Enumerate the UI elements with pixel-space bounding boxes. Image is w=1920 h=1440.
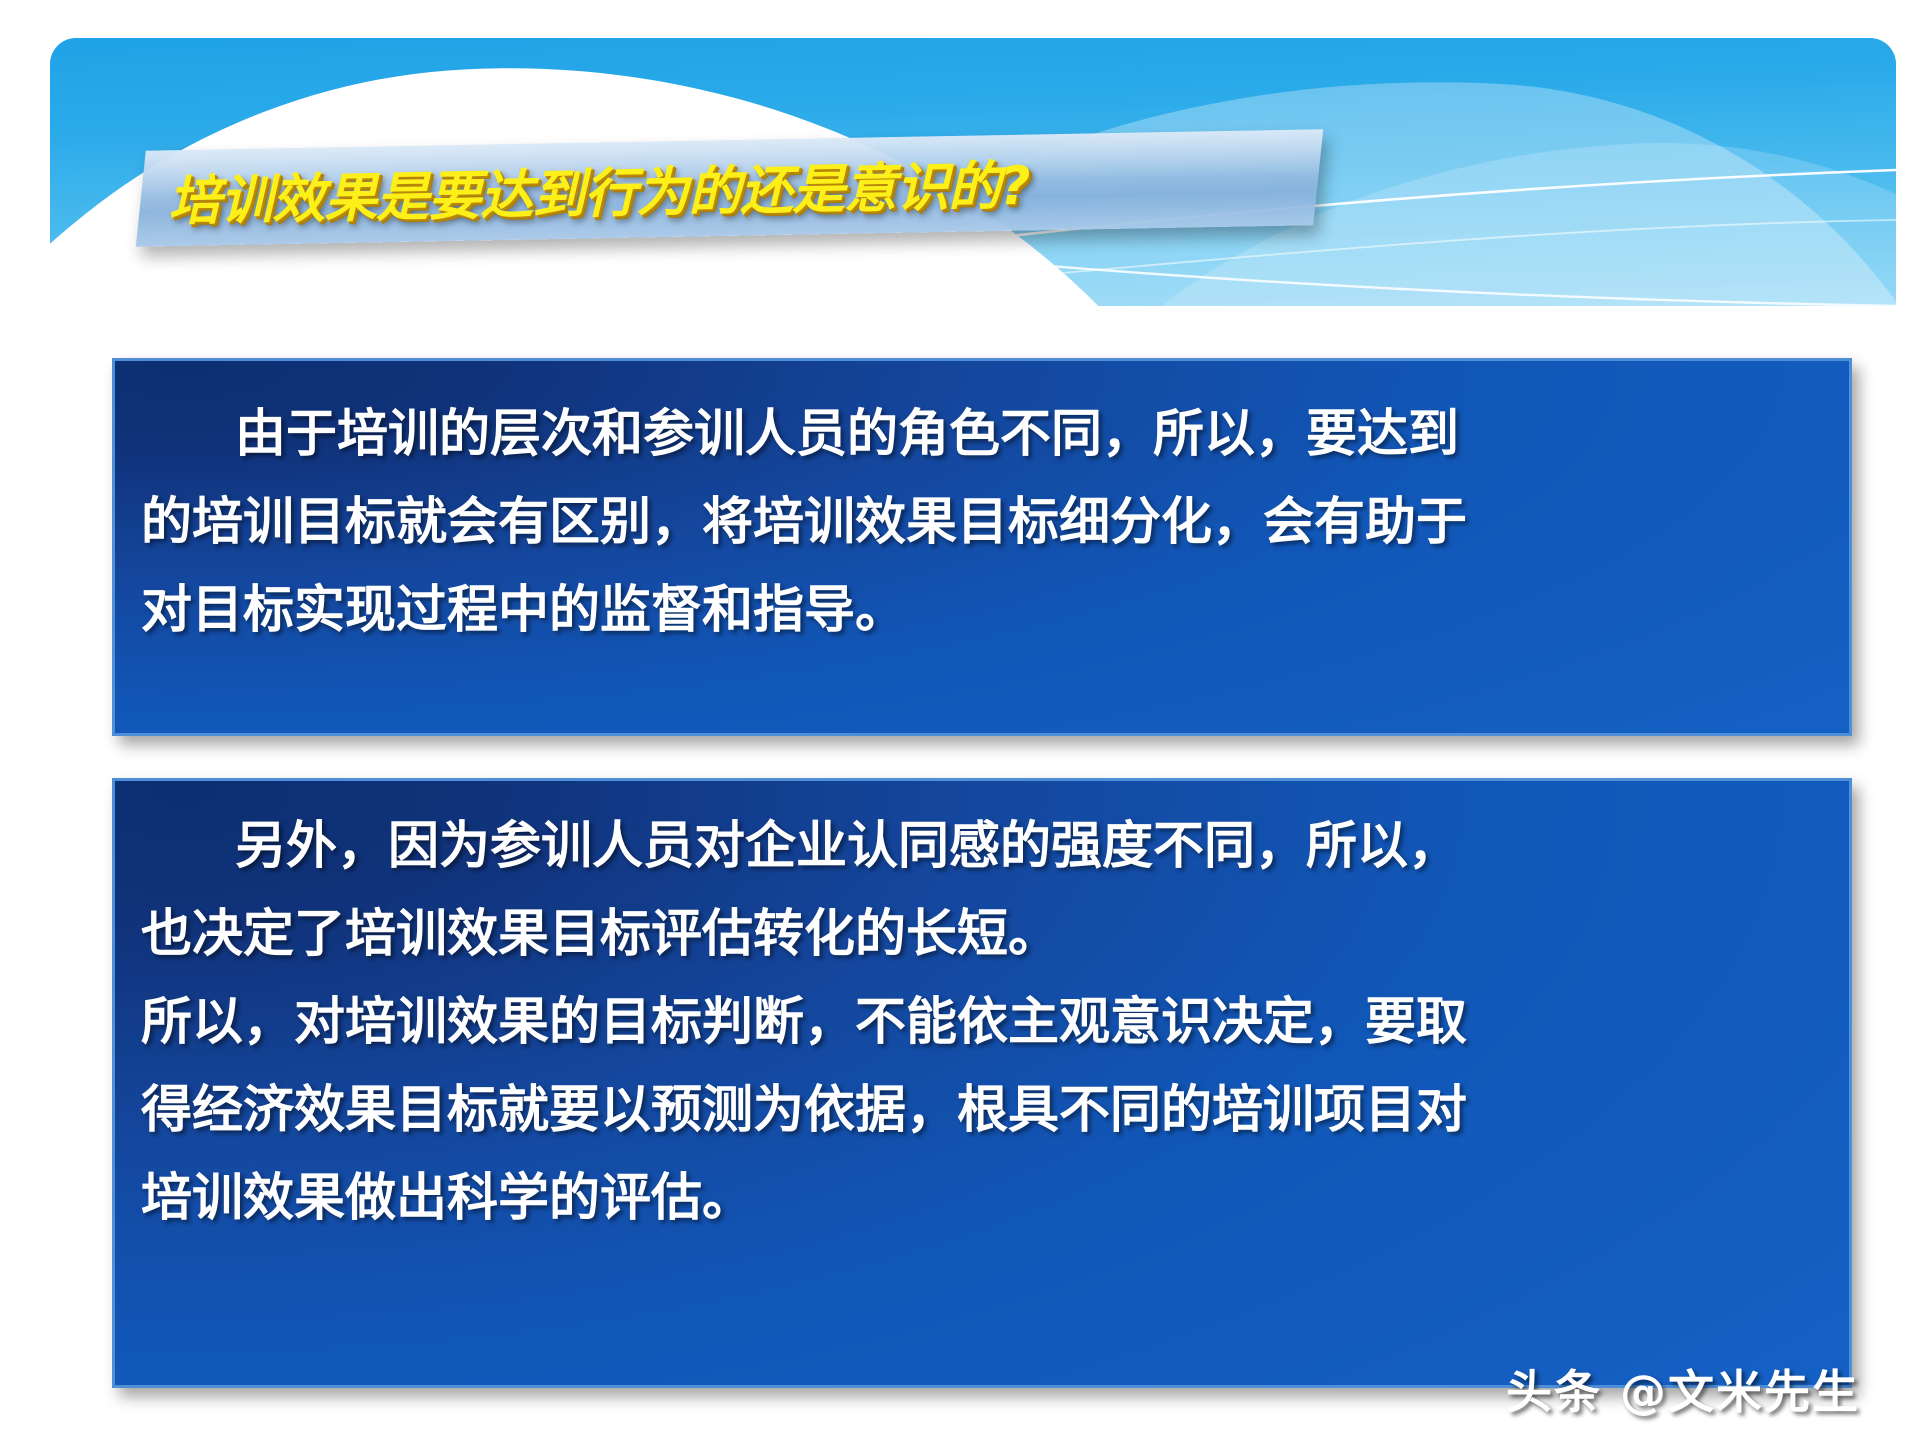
content-box-one-body: 由于培训的层次和参训人员的角色不同，所以，要达到 的培训目标就会有区别，将培训效… [115, 361, 1849, 655]
paragraph-line: 另外，因为参训人员对企业认同感的强度不同，所以， [115, 803, 1849, 891]
paragraph-line: 得经济效果目标就要以预测为依据，根具不同的培训项目对 [115, 1067, 1849, 1155]
paragraph-line: 所以，对培训效果的目标判断，不能依主观意识决定，要取 [115, 979, 1849, 1067]
content-box-one: 由于培训的层次和参训人员的角色不同，所以，要达到 的培训目标就会有区别，将培训效… [112, 358, 1852, 736]
paragraph-line: 的培训目标就会有区别，将培训效果目标细分化，会有助于 [115, 479, 1849, 567]
content-box-two: 另外，因为参训人员对企业认同感的强度不同，所以， 也决定了培训效果目标评估转化的… [112, 778, 1852, 1388]
paragraph-line: 培训效果做出科学的评估。 [115, 1155, 1849, 1243]
paragraph-line: 对目标实现过程中的监督和指导。 [115, 567, 1849, 655]
paragraph-line: 由于培训的层次和参训人员的角色不同，所以，要达到 [115, 391, 1849, 479]
content-box-two-body: 另外，因为参训人员对企业认同感的强度不同，所以， 也决定了培训效果目标评估转化的… [115, 781, 1849, 1243]
watermark-attribution: 头条 @文米先生 [1506, 1356, 1860, 1422]
paragraph-line: 也决定了培训效果目标评估转化的长短。 [115, 891, 1849, 979]
slide-canvas: 培训效果是要达到行为的还是意识的? 由于培训的层次和参训人员的角色不同，所以，要… [0, 0, 1920, 1440]
